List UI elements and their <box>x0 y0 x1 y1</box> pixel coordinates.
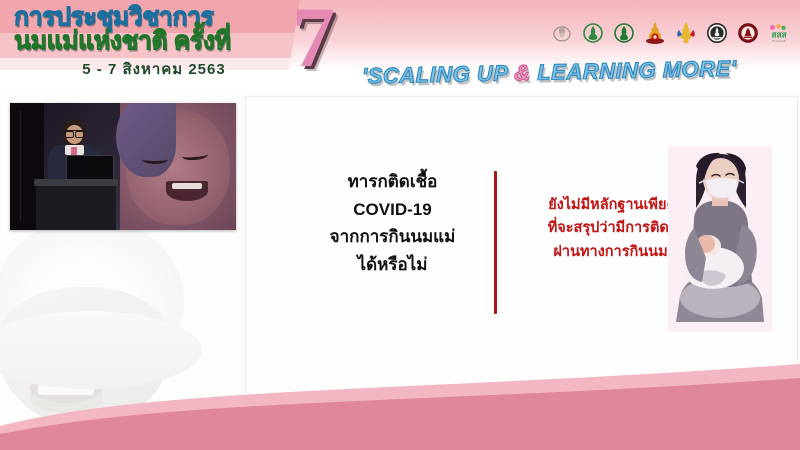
baby-pane <box>120 103 236 230</box>
question-line-1: ทารกติดเชื้อ <box>300 168 485 196</box>
nursing-council-logo <box>704 20 730 46</box>
thai-pediatric-society-logo <box>642 20 668 46</box>
question-line-3: จากการกินนมแม่ <box>300 223 485 251</box>
thaihealth-sss-logo: สสสThaiHealth <box>766 20 792 46</box>
conference-title-line-2: นมแม่แห่งชาติ ครั้งที่ <box>14 28 294 54</box>
royal-thai-emblem-logo <box>549 20 575 46</box>
department-health-logo <box>611 20 637 46</box>
svg-text:ThaiHealth: ThaiHealth <box>772 39 787 43</box>
speaker-pane <box>10 103 126 230</box>
conference-title: การประชุมวิชาการ นมแม่แห่งชาติ ครั้งที่ … <box>14 4 294 81</box>
slide-question-text: ทารกติดเชื้อ COVID-19 จากการกินนมแม่ ได้… <box>300 168 485 278</box>
slogan-ampersand: & <box>514 60 530 85</box>
background-baby-photo <box>0 215 248 430</box>
question-line-4: ได้หรือไม่ <box>300 251 485 279</box>
masked-mother-breastfeeding-illustration <box>668 146 772 332</box>
webinar-video-tile[interactable] <box>10 103 236 230</box>
university-seal-logo <box>735 20 761 46</box>
slogan-part-2: LEARNING MORE' <box>531 56 737 85</box>
presentation-screen: ทารกติดเชื้อ COVID-19 จากการกินนมแม่ ได้… <box>0 0 800 450</box>
slogan-part-1: 'SCALING UP <box>362 60 514 88</box>
conference-dates: 5 - 7 สิงหาคม 2563 <box>14 57 294 81</box>
thai-garuda-logo <box>673 20 699 46</box>
partner-logos-row: สสสThaiHealth <box>549 20 792 46</box>
conference-header-banner: การประชุมวิชาการ นมแม่แห่งชาติ ครั้งที่ … <box>0 0 800 92</box>
question-line-2: COVID-19 <box>300 196 485 224</box>
conference-edition-number: 7 <box>292 0 335 80</box>
vertical-divider <box>494 171 497 314</box>
slide-page-number: 6 <box>740 382 744 389</box>
ministry-public-health-logo <box>580 20 606 46</box>
